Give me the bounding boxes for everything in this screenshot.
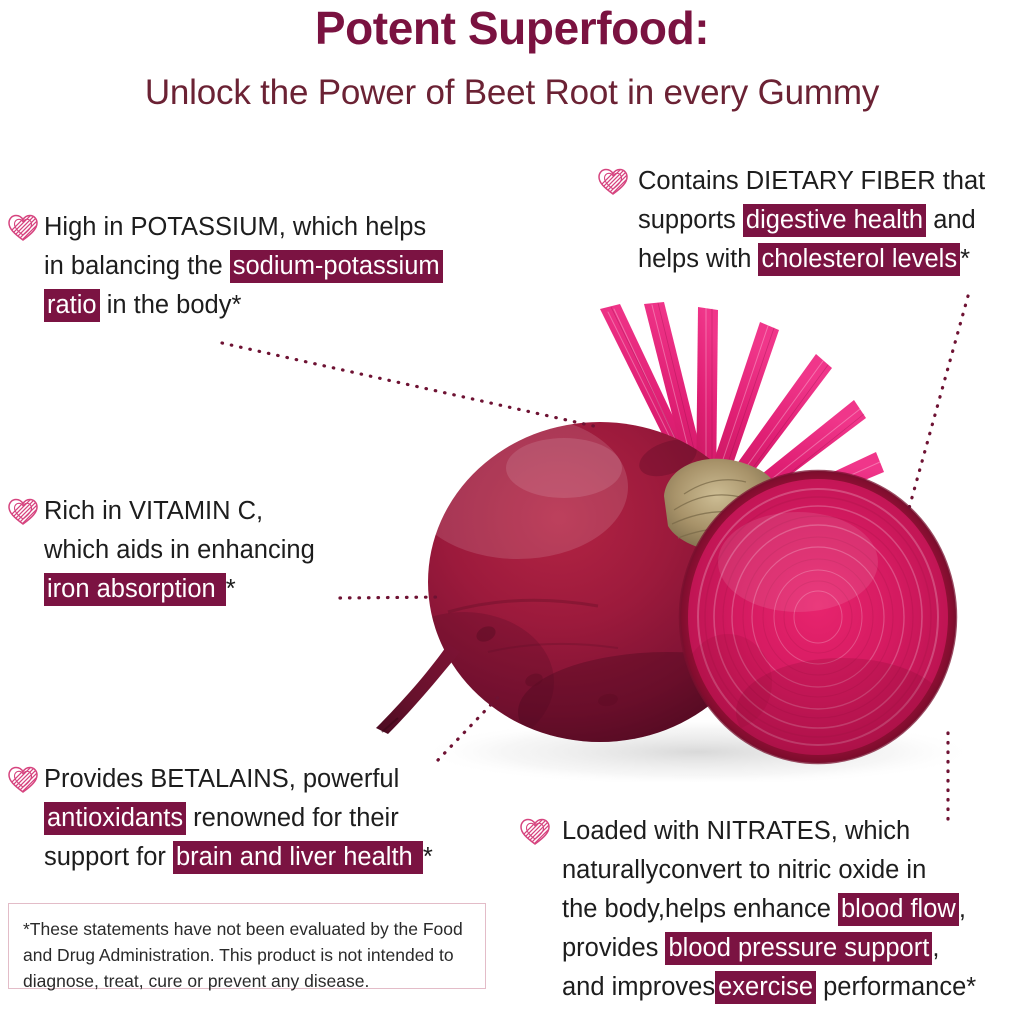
fact-line: Rich in VITAMIN C, (44, 492, 408, 531)
fact-line: supports digestive health and (638, 201, 1024, 240)
plain-phrase: Provides BETALAINS, powerful (44, 765, 399, 793)
highlighted-phrase: exercise (715, 971, 816, 1004)
beet-taproot (376, 644, 460, 734)
plain-phrase: Rich in VITAMIN C, (44, 497, 263, 525)
beet-cut-half (680, 471, 956, 766)
plain-phrase: in the body* (100, 291, 242, 319)
fact-fiber: Contains DIETARY FIBER thatsupports dige… (598, 162, 1024, 279)
plain-phrase: renowned for their (186, 804, 399, 832)
connector-fiber (908, 296, 968, 512)
highlighted-phrase: ratio (44, 289, 100, 322)
plain-phrase: * (960, 245, 970, 273)
beet-stems (600, 302, 884, 590)
fact-line: ratio in the body* (44, 286, 528, 325)
highlighted-phrase: cholesterol levels (758, 243, 960, 276)
fact-line: support for brain and liver health * (44, 838, 518, 877)
disclaimer-box: *These statements have not been evaluate… (8, 903, 486, 989)
fact-fiber-text: Contains DIETARY FIBER thatsupports dige… (598, 162, 1024, 279)
plain-phrase: and improves (562, 973, 715, 1001)
beet-root-image (368, 282, 992, 782)
plain-phrase: , (932, 934, 939, 962)
highlighted-phrase: blood pressure support (665, 932, 932, 965)
fact-betalains: Provides BETALAINS, powerfulantioxidants… (8, 760, 518, 877)
fact-line: provides blood pressure support, (562, 929, 1024, 968)
connector-betalains (438, 692, 503, 760)
plain-phrase: * (226, 575, 236, 603)
fact-line: Loaded with NITRATES, which (562, 812, 1024, 851)
fact-line: iron absorption * (44, 570, 408, 609)
plain-phrase: naturallyconvert to nitric oxide in (562, 856, 926, 884)
highlighted-phrase: brain and liver health (173, 841, 423, 874)
plain-phrase: support for (44, 843, 173, 871)
disclaimer-text: *These statements have not been evaluate… (23, 919, 463, 991)
plain-phrase: the body,helps enhance (562, 895, 838, 923)
striped-heart-icon (520, 818, 550, 845)
page-subtitle: Unlock the Power of Beet Root in every G… (0, 72, 1024, 114)
fact-line: the body,helps enhance blood flow, (562, 890, 1024, 929)
plain-phrase: Loaded with NITRATES, which (562, 817, 910, 845)
plain-phrase: Contains DIETARY FIBER that (638, 167, 985, 195)
connector-potassium (222, 343, 598, 427)
page-title: Potent Superfood: (0, 2, 1024, 55)
fact-line: High in POTASSIUM, which helps (44, 208, 528, 247)
plain-phrase: provides (562, 934, 665, 962)
fact-line: which aids in enhancing (44, 531, 408, 570)
striped-heart-icon (8, 498, 38, 525)
highlighted-phrase: blood flow (838, 893, 959, 926)
fact-line: in balancing the sodium-potassium (44, 247, 528, 286)
infographic-canvas: Potent Superfood: Unlock the Power of Be… (0, 0, 1024, 1010)
plain-phrase: in balancing the (44, 252, 230, 280)
striped-heart-icon (8, 766, 38, 793)
highlighted-phrase: digestive health (743, 204, 926, 237)
fact-potassium-text: High in POTASSIUM, which helpsin balanci… (8, 208, 528, 325)
striped-heart-icon (8, 214, 38, 241)
beet-crown (664, 459, 781, 552)
plain-phrase: and (926, 206, 976, 234)
plain-phrase: performance* (816, 973, 976, 1001)
plain-phrase: High in POTASSIUM, which helps (44, 213, 426, 241)
highlighted-phrase: antioxidants (44, 802, 186, 835)
fact-betalains-text: Provides BETALAINS, powerfulantioxidants… (8, 760, 518, 877)
striped-heart-icon (598, 168, 628, 195)
fact-line: and improvesexercise performance* (562, 968, 1024, 1007)
fact-line: antioxidants renowned for their (44, 799, 518, 838)
fact-line: Provides BETALAINS, powerful (44, 760, 518, 799)
fact-nitrates: Loaded with NITRATES, whichnaturallyconv… (520, 812, 1024, 1007)
beet-whole (374, 415, 818, 772)
fact-potassium: High in POTASSIUM, which helpsin balanci… (8, 208, 528, 325)
plain-phrase: supports (638, 206, 743, 234)
fact-nitrates-text: Loaded with NITRATES, whichnaturallyconv… (520, 812, 1024, 1007)
fact-line: naturallyconvert to nitric oxide in (562, 851, 1024, 890)
plain-phrase: * (423, 843, 433, 871)
plain-phrase: which aids in enhancing (44, 536, 315, 564)
fact-vitamin-c-text: Rich in VITAMIN C,which aids in enhancin… (8, 492, 408, 609)
highlighted-phrase: iron absorption (44, 573, 226, 606)
fact-vitamin-c: Rich in VITAMIN C,which aids in enhancin… (8, 492, 408, 609)
plain-phrase: , (959, 895, 966, 923)
fact-line: helps with cholesterol levels* (638, 240, 1024, 279)
plain-phrase: helps with (638, 245, 758, 273)
fact-line: Contains DIETARY FIBER that (638, 162, 1024, 201)
highlighted-phrase: sodium-potassium (230, 250, 443, 283)
